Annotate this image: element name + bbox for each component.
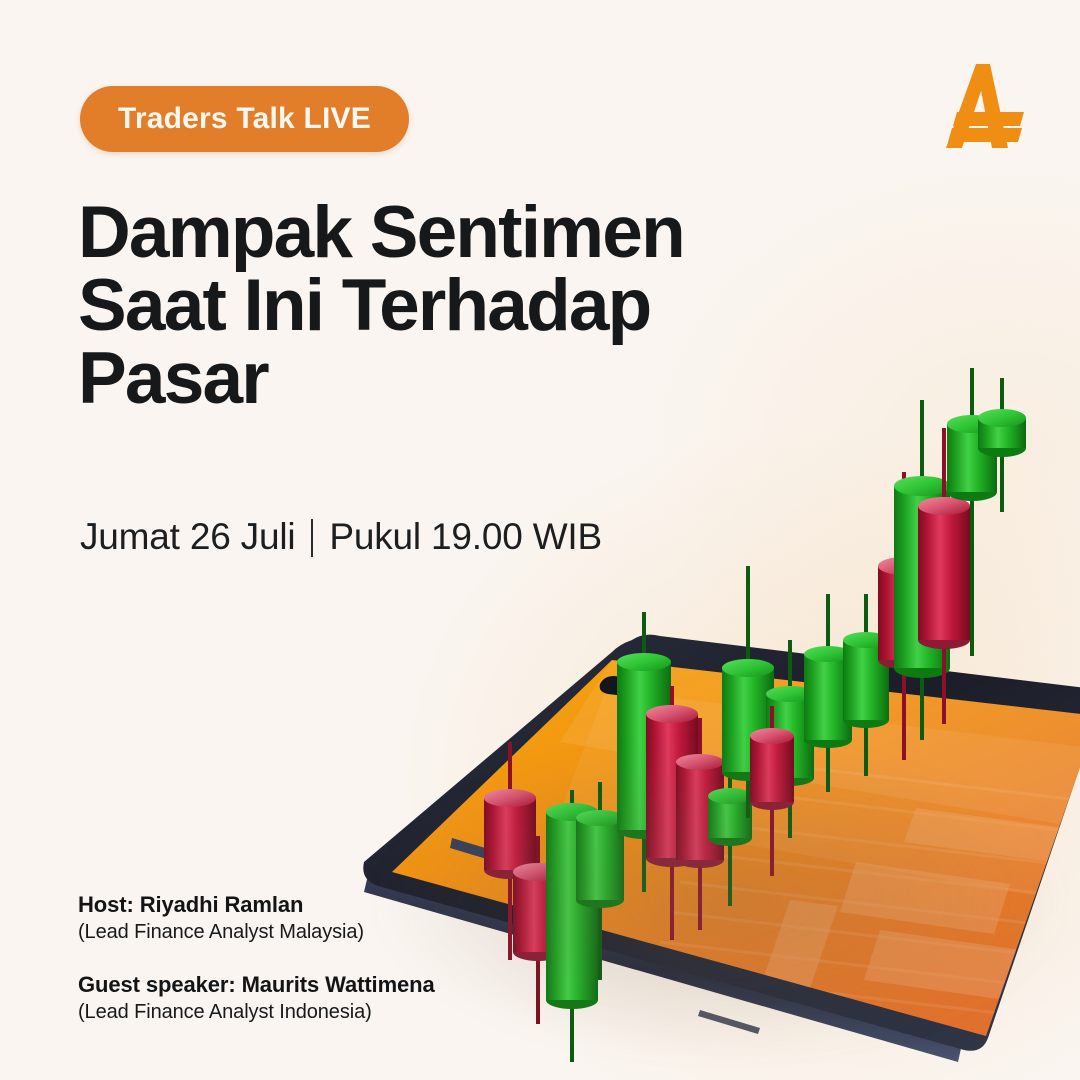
promo-poster: Traders Talk LIVE Dampak Sentimen Saat I… bbox=[0, 0, 1080, 1080]
candle-7-bear bbox=[676, 718, 724, 930]
austral-a-logo-icon bbox=[932, 56, 1044, 156]
screen-watermark bbox=[560, 690, 1080, 1018]
candle-6-bear bbox=[646, 686, 698, 940]
title-line-3: Pasar bbox=[78, 342, 798, 415]
credit-guest: Guest speaker: Maurits Wattimena (Lead F… bbox=[78, 972, 548, 1024]
live-badge[interactable]: Traders Talk LIVE bbox=[80, 86, 409, 152]
candle-16-bear bbox=[918, 428, 970, 724]
live-badge-label: Traders Talk LIVE bbox=[118, 102, 371, 136]
candle-15-bull bbox=[894, 400, 950, 740]
candle-3-bull bbox=[546, 790, 598, 1062]
phone-side-button bbox=[450, 838, 492, 860]
brand-logo bbox=[932, 56, 1044, 156]
credit-guest-name: Guest speaker: Maurits Wattimena bbox=[78, 972, 548, 998]
page-title: Dampak Sentimen Saat Ini Terhadap Pasar bbox=[78, 196, 798, 415]
candle-11-bear bbox=[750, 706, 794, 876]
title-line-2: Saat Ini Terhadap bbox=[78, 269, 798, 342]
credits-block: Host: Riyadhi Ramlan (Lead Finance Analy… bbox=[78, 892, 548, 1024]
phone-notch bbox=[600, 676, 671, 700]
candle-13-bull bbox=[843, 594, 889, 776]
candle-5-bull bbox=[617, 612, 671, 892]
title-line-1: Dampak Sentimen bbox=[78, 196, 798, 269]
candle-18-bull bbox=[978, 378, 1026, 512]
schedule-separator bbox=[311, 519, 313, 557]
candle-14-bear bbox=[878, 472, 930, 760]
candlestick-series bbox=[484, 368, 1026, 1062]
phone-speaker-slot bbox=[698, 1010, 760, 1034]
candle-12-bull bbox=[804, 594, 852, 792]
schedule-time: Pukul 19.00 WIB bbox=[329, 516, 602, 558]
candle-4-bull bbox=[576, 782, 624, 980]
credit-guest-role: (Lead Finance Analyst Indonesia) bbox=[78, 1001, 548, 1024]
candle-10-bull bbox=[766, 640, 814, 838]
candle-9-bull bbox=[722, 566, 774, 818]
credit-host-role: (Lead Finance Analyst Malaysia) bbox=[78, 921, 548, 944]
credit-host-name: Host: Riyadhi Ramlan bbox=[78, 892, 548, 918]
schedule-date: Jumat 26 Juli bbox=[80, 516, 295, 558]
credit-host: Host: Riyadhi Ramlan (Lead Finance Analy… bbox=[78, 892, 548, 944]
schedule-line: Jumat 26 Juli Pukul 19.00 WIB bbox=[80, 516, 602, 558]
candle-17-bull bbox=[947, 368, 997, 656]
candle-8-bull bbox=[708, 760, 752, 906]
